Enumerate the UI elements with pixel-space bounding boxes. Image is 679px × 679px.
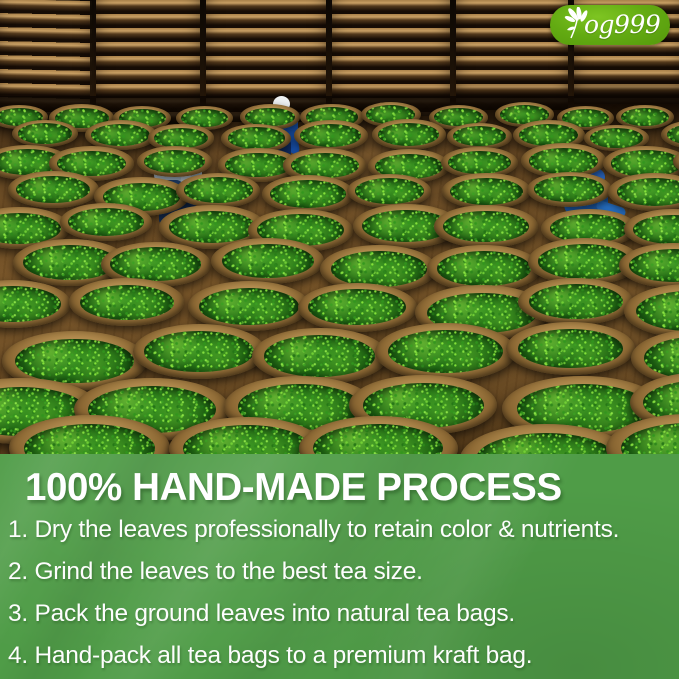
process-step-3: 3. Pack the ground leaves into natural t… xyxy=(8,600,515,628)
tea-leaves xyxy=(300,124,361,147)
infographic-page: og999 100% HAND-MADE PROCESS 1. Dry the … xyxy=(0,0,679,679)
bamboo-tray xyxy=(372,119,446,150)
tea-leaves xyxy=(590,128,643,148)
tea-leaves xyxy=(91,124,150,146)
bamboo-tray xyxy=(60,203,153,241)
tea-leaves xyxy=(80,285,174,320)
process-info-panel: 100% HAND-MADE PROCESS 1. Dry the leaves… xyxy=(0,454,679,679)
tea-leaves xyxy=(169,211,257,243)
tea-leaves xyxy=(534,176,604,202)
tea-leaves xyxy=(476,433,617,454)
tea-leaves xyxy=(636,291,679,331)
tea-leaves xyxy=(538,244,630,278)
logo-wordmark: og999 xyxy=(584,11,660,39)
tea-leaves xyxy=(228,127,285,148)
tea-leaves xyxy=(355,178,424,204)
tea-leaves xyxy=(448,151,511,174)
bamboo-tray xyxy=(69,278,184,325)
tea-leaves xyxy=(183,425,311,454)
tea-leaves xyxy=(617,178,679,206)
tea-leaves xyxy=(331,251,427,287)
tea-leaves xyxy=(199,288,299,325)
tea-leaves xyxy=(453,126,506,146)
bamboo-tray xyxy=(506,322,635,375)
tea-factory-photo: og999 xyxy=(0,0,679,454)
tea-leaves xyxy=(264,335,376,377)
bamboo-tray xyxy=(252,328,388,384)
bamboo-tray xyxy=(12,120,78,148)
tea-leaves xyxy=(437,251,530,286)
tea-leaves xyxy=(621,108,668,126)
tea-leaves xyxy=(15,339,134,383)
tea-leaves xyxy=(529,148,598,174)
tea-leaves xyxy=(18,123,73,143)
tea-leaves xyxy=(443,211,528,243)
tea-leaves xyxy=(184,177,253,203)
tea-leaves xyxy=(222,244,315,278)
tea-leaves xyxy=(144,150,206,173)
bamboo-tray xyxy=(294,120,369,151)
process-step-4: 4. Hand-pack all tea bags to a premium k… xyxy=(8,642,532,670)
tea-leaves xyxy=(644,336,679,380)
tea-leaves xyxy=(667,124,679,145)
bamboo-tray xyxy=(176,173,261,208)
process-step-1: 1. Dry the leaves professionally to reta… xyxy=(8,516,619,544)
tea-leaves xyxy=(144,331,253,372)
tea-leaves xyxy=(633,215,679,244)
tea-leaves xyxy=(24,424,155,454)
tea-leaves xyxy=(0,213,61,244)
bamboo-tray xyxy=(347,174,431,209)
bamboo-tray xyxy=(434,205,538,248)
tea-leaves xyxy=(621,423,679,454)
tea-leaves xyxy=(529,284,624,319)
tea-leaves xyxy=(0,286,61,322)
bamboo-tray xyxy=(298,283,417,332)
tea-leaves xyxy=(313,424,443,454)
tea-leaves xyxy=(378,123,439,146)
panel-headline: 100% HAND-MADE PROCESS xyxy=(25,466,562,510)
brand-logo[interactable]: og999 xyxy=(550,5,670,45)
bamboo-tray xyxy=(8,171,98,208)
tea-leaves xyxy=(16,176,90,204)
tea-leaves xyxy=(68,208,144,236)
bamboo-tray xyxy=(133,324,266,379)
tea-leaves xyxy=(154,128,208,148)
bamboo-tray xyxy=(447,123,512,150)
tea-leaves xyxy=(270,180,346,208)
tea-leaves xyxy=(518,329,624,368)
bamboo-tray xyxy=(262,175,354,213)
bamboo-tray xyxy=(211,238,324,284)
process-step-2: 2. Grind the leaves to the best tea size… xyxy=(8,558,423,586)
bamboo-tray xyxy=(375,323,516,381)
tea-leaves xyxy=(450,178,523,205)
tea-leaves xyxy=(308,289,406,325)
tea-leaves xyxy=(110,247,201,281)
tea-leaves xyxy=(388,330,503,373)
bamboo-tray xyxy=(527,172,612,207)
tea-leaves xyxy=(629,249,679,282)
